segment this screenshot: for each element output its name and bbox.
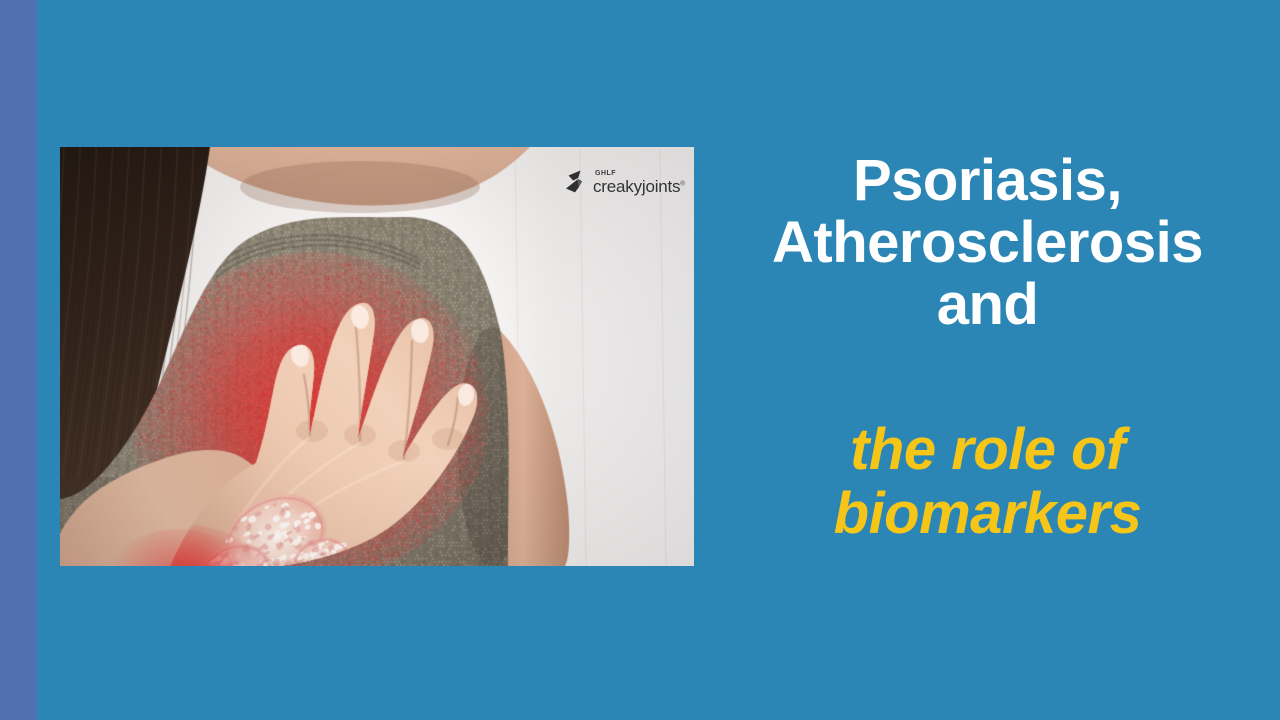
title-line-3: and — [735, 274, 1240, 336]
slide-title: Psoriasis, Atherosclerosis and — [735, 150, 1240, 336]
subtitle-line-1: the role of — [735, 418, 1240, 482]
hero-photo-canvas — [60, 147, 694, 566]
title-line-1: Psoriasis, — [735, 150, 1240, 212]
hero-photo: GHLF creakyjoints® — [60, 147, 694, 566]
title-line-2: Atherosclerosis — [735, 212, 1240, 274]
slide-subtitle: the role of biomarkers — [735, 418, 1240, 546]
subtitle-line-2: biomarkers — [735, 482, 1240, 546]
left-accent-bar — [0, 0, 37, 720]
presentation-slide: GHLF creakyjoints® Psoriasis, Atheroscle… — [0, 0, 1280, 720]
